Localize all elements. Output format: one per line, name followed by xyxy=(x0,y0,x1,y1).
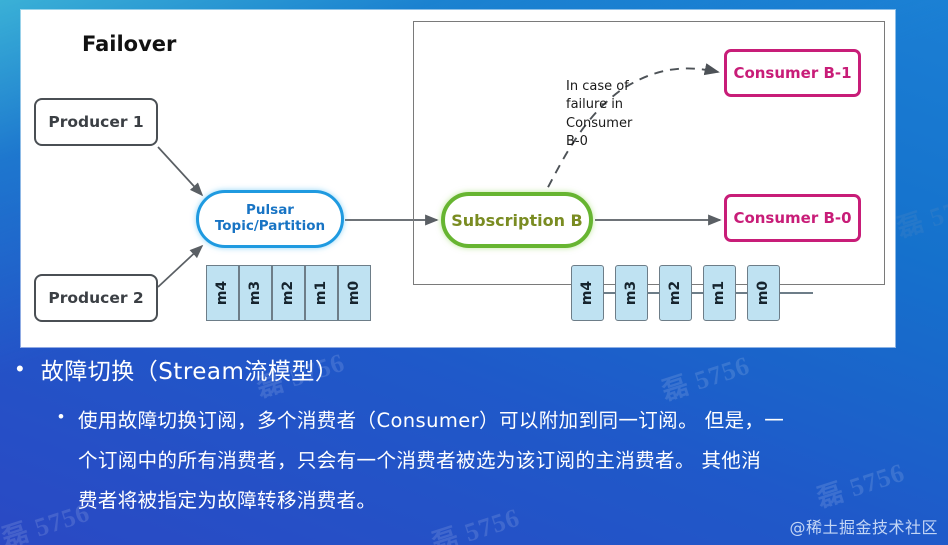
bullet-text-block: • 故障切换（Stream流模型） • 使用故障切换订阅，多个消费者（Consu… xyxy=(0,352,948,545)
message-box: m4 xyxy=(571,265,604,321)
message-label: m0 xyxy=(347,281,363,305)
message-label: m4 xyxy=(580,281,596,305)
message-label: m0 xyxy=(756,281,772,305)
message-label: m2 xyxy=(281,281,297,305)
subscription-b-node[interactable]: Subscription B xyxy=(441,192,593,248)
message-box: m2 xyxy=(272,265,305,321)
pulsar-topic-partition-node[interactable]: Pulsar Topic/Partition xyxy=(196,190,344,248)
producer-2-node[interactable]: Producer 2 xyxy=(34,274,158,322)
failure-annotation: In case of failure in Consumer B-0 xyxy=(566,78,650,152)
message-label: m4 xyxy=(215,281,231,305)
background-watermark: 磊 5756 xyxy=(891,182,948,245)
bullet-level1-text: 故障切换（Stream流模型） xyxy=(41,352,339,386)
pulsar-label-line1: Pulsar xyxy=(246,203,294,219)
message-label: m2 xyxy=(668,281,684,305)
bullet-marker-icon: • xyxy=(16,358,24,380)
consumer-b0-node[interactable]: Consumer B-0 xyxy=(724,194,861,242)
bullet-level2: • 使用故障切换订阅，多个消费者（Consumer）可以附加到同一订阅。 但是，… xyxy=(0,401,948,521)
failure-note-line-4: B-0 xyxy=(566,133,650,151)
message-label: m1 xyxy=(712,281,728,305)
message-box: m0 xyxy=(338,265,371,321)
diagram-panel: Failover Producer 1 Producer 2 Pulsar To… xyxy=(21,10,895,347)
message-box: m3 xyxy=(239,265,272,321)
consumer-b1-label: Consumer B-1 xyxy=(733,64,851,82)
message-box: m3 xyxy=(615,265,648,321)
subscription-b-label: Subscription B xyxy=(451,211,582,230)
bullet-level1: • 故障切换（Stream流模型） xyxy=(0,352,948,386)
message-label: m1 xyxy=(314,281,330,305)
producer-2-label: Producer 2 xyxy=(48,289,143,307)
consumer-b1-node[interactable]: Consumer B-1 xyxy=(724,49,861,97)
failover-title: Failover xyxy=(82,32,176,56)
consumer-b0-label: Consumer B-0 xyxy=(733,209,851,227)
message-box: m4 xyxy=(206,265,239,321)
producer-1-label: Producer 1 xyxy=(48,113,143,131)
message-box: m2 xyxy=(659,265,692,321)
message-label: m3 xyxy=(248,281,264,305)
failure-note-line-1: In case of xyxy=(566,78,650,96)
bullet-marker-icon: • xyxy=(58,408,64,425)
bullet-level2-line-2: 个订阅中的所有消费者，只会有一个消费者被选为该订阅的主消费者。 其他消 xyxy=(78,441,784,481)
failure-note-line-2: failure in xyxy=(566,96,650,114)
producer-1-node[interactable]: Producer 1 xyxy=(34,98,158,146)
message-box: m1 xyxy=(703,265,736,321)
bullet-level2-line-3: 费者将被指定为故障转移消费者。 xyxy=(78,481,784,521)
message-label: m3 xyxy=(624,281,640,305)
message-box: m0 xyxy=(747,265,780,321)
site-watermark: @稀土掘金技术社区 xyxy=(789,514,938,538)
bullet-level2-line-1: 使用故障切换订阅，多个消费者（Consumer）可以附加到同一订阅。 但是，一 xyxy=(78,401,784,441)
pulsar-label-line2: Topic/Partition xyxy=(215,219,325,235)
bullet-level2-text: 使用故障切换订阅，多个消费者（Consumer）可以附加到同一订阅。 但是，一 … xyxy=(78,401,784,521)
failure-note-line-3: Consumer xyxy=(566,115,650,133)
message-box: m1 xyxy=(305,265,338,321)
